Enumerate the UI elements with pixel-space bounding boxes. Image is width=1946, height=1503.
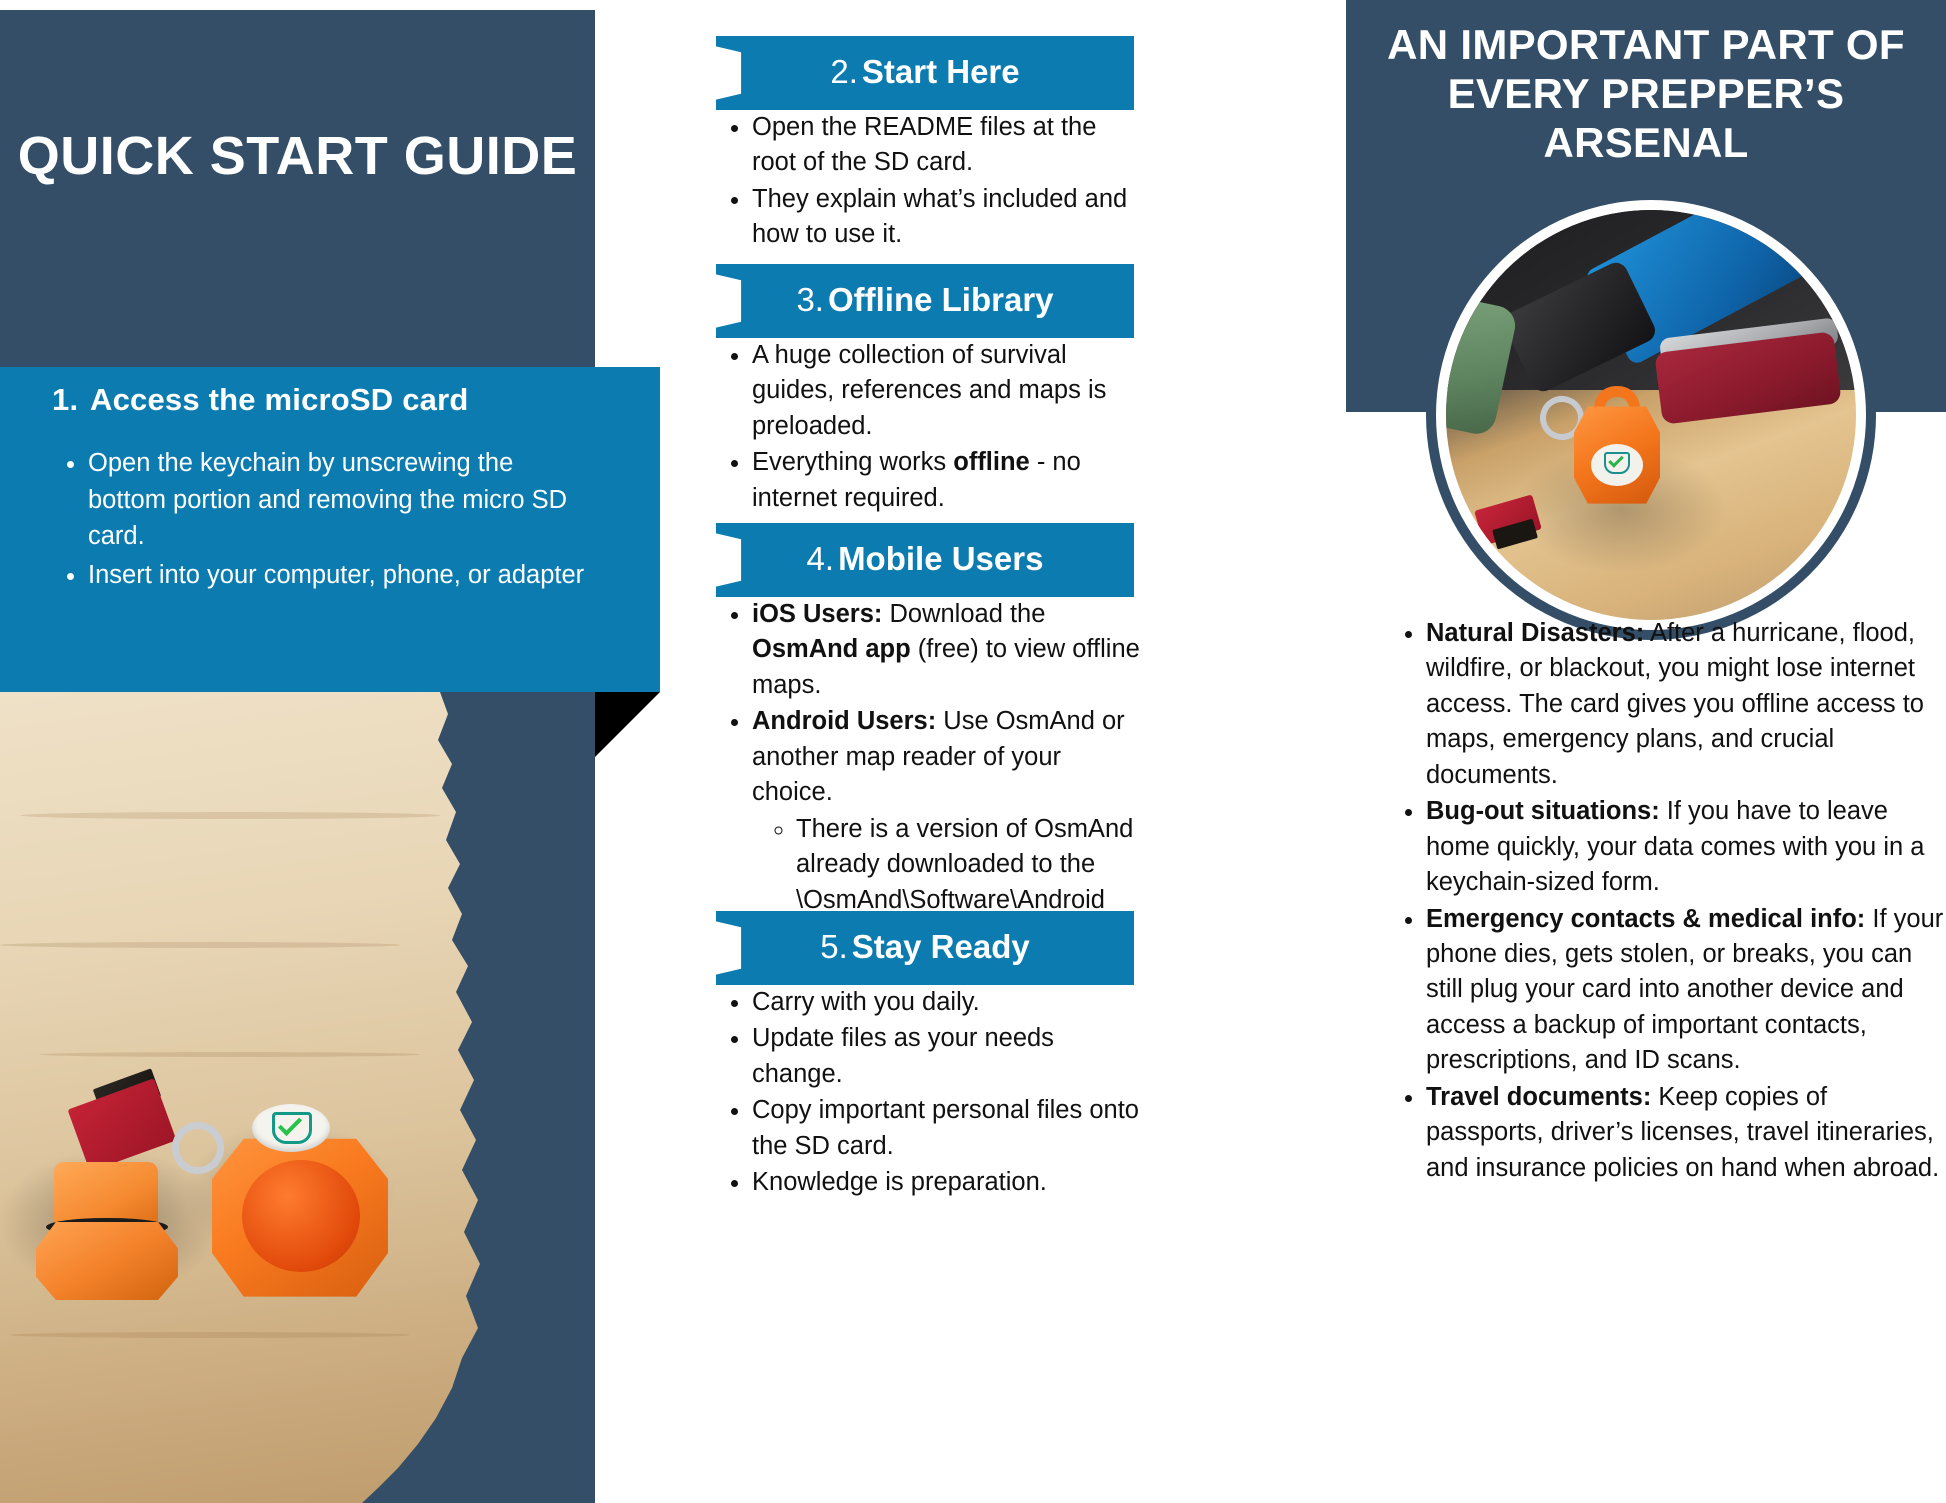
section-title: Stay Ready xyxy=(852,928,1030,966)
list-item: Copy important personal files onto the S… xyxy=(752,1093,1146,1164)
right-heading: AN IMPORTANT PART OF EVERY PREPPER’S ARS… xyxy=(1346,20,1946,167)
list-item: Everything works offline - no internet r… xyxy=(752,445,1146,516)
step1-content: 1.Access the microSD card Open the keych… xyxy=(0,367,660,692)
list-item: Bug-out situations: If you have to leave… xyxy=(1426,794,1946,900)
list-item: Carry with you daily. xyxy=(752,985,1146,1020)
list-item: Natural Disasters: After a hurricane, fl… xyxy=(1426,616,1946,793)
page-title: QUICK START GUIDE xyxy=(0,125,595,188)
section-title: Offline Library xyxy=(828,281,1054,319)
list-item: They explain what’s included and how to … xyxy=(752,182,1146,253)
wood-grain xyxy=(0,942,400,948)
wood-grain xyxy=(40,1052,420,1057)
list-item: Open the README files at the root of the… xyxy=(752,110,1146,181)
section-bullet-list: Carry with you daily.Update files as you… xyxy=(716,985,1146,1201)
list-item: Update files as your needs change. xyxy=(752,1021,1146,1092)
list-item: iOS Users: Download the OsmAnd app (free… xyxy=(752,597,1146,703)
step1-heading-text: Access the microSD card xyxy=(90,382,469,417)
section-bullet-list: iOS Users: Download the OsmAnd app (free… xyxy=(716,597,1146,953)
list-item: Travel documents: Keep copies of passpor… xyxy=(1426,1080,1946,1186)
section-bullet-list: A huge collection of survival guides, re… xyxy=(716,338,1146,516)
left-product-photo xyxy=(0,692,595,1503)
section-5: 5.Stay ReadyCarry with you daily.Update … xyxy=(600,911,1260,1202)
section-number: 3. xyxy=(796,281,824,319)
list-item: Open the keychain by unscrewing the bott… xyxy=(88,445,592,555)
middle-column: 2.Start HereOpen the README files at the… xyxy=(600,0,1260,1503)
keychain-cap-inner xyxy=(242,1160,360,1272)
section-banner: 5.Stay Ready xyxy=(716,911,1134,985)
section-number: 2. xyxy=(830,53,858,91)
section-bullet-list: Open the README files at the root of the… xyxy=(716,110,1146,253)
step1-heading: 1.Access the microSD card xyxy=(52,382,632,418)
section-4: 4.Mobile UsersiOS Users: Download the Os… xyxy=(600,523,1260,954)
wood-grain xyxy=(20,812,440,819)
left-photo-image xyxy=(0,692,595,1503)
section-number: 5. xyxy=(820,928,848,966)
section-banner: 4.Mobile Users xyxy=(716,523,1134,597)
list-item: Emergency contacts & medical info: If yo… xyxy=(1426,902,1946,1079)
step1-number: 1. xyxy=(52,382,90,418)
step1-bullet-list: Open the keychain by unscrewing the bott… xyxy=(52,445,592,596)
microsd-card xyxy=(67,1078,176,1171)
left-title-panel xyxy=(0,10,595,370)
section-banner: 3.Offline Library xyxy=(716,264,1134,338)
right-product-photo xyxy=(1446,210,1856,620)
right-column: AN IMPORTANT PART OF EVERY PREPPER’S ARS… xyxy=(1300,0,1946,1503)
section-title: Mobile Users xyxy=(838,540,1043,578)
section-2: 2.Start HereOpen the README files at the… xyxy=(600,36,1260,254)
list-item: A huge collection of survival guides, re… xyxy=(752,338,1146,444)
section-banner: 2.Start Here xyxy=(716,36,1134,110)
section-number: 4. xyxy=(807,540,835,578)
wood-grain xyxy=(10,1332,410,1338)
list-item: Insert into your computer, phone, or ada… xyxy=(88,557,592,594)
section-3: 3.Offline LibraryA huge collection of su… xyxy=(600,264,1260,517)
list-item: Knowledge is preparation. xyxy=(752,1165,1146,1200)
right-bullet-list: Natural Disasters: After a hurricane, fl… xyxy=(1390,616,1946,1187)
section-title: Start Here xyxy=(862,53,1020,91)
brochure-page: QUICK START GUIDE 1.Access the microSD c… xyxy=(0,0,1946,1503)
left-column: QUICK START GUIDE 1.Access the microSD c… xyxy=(0,0,600,1503)
keychain-base xyxy=(36,1222,178,1300)
